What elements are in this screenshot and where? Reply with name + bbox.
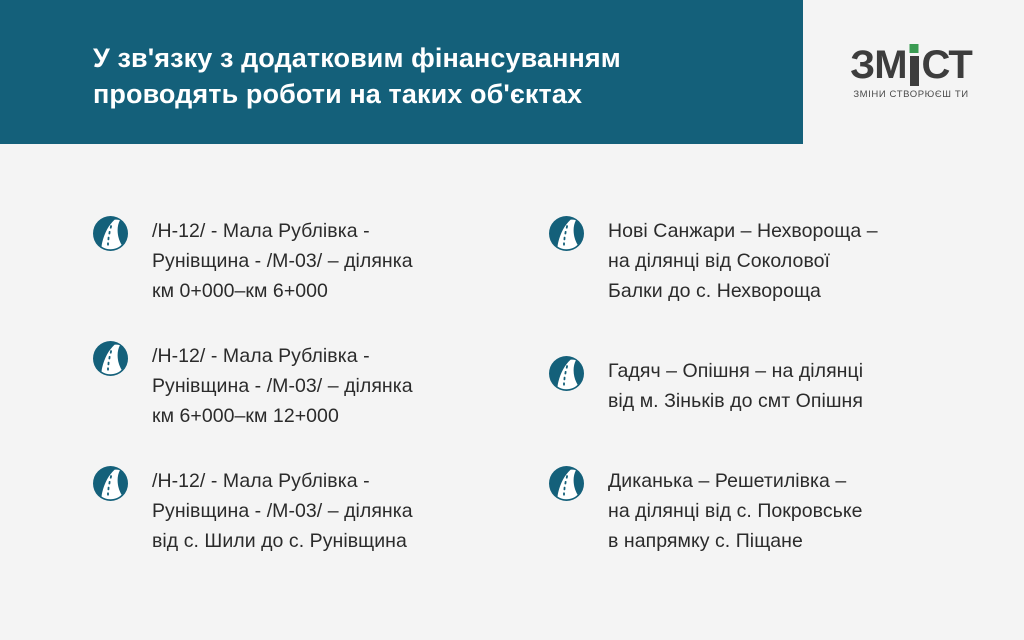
logo-wordmark: ЗМ СТ (846, 44, 976, 86)
list-item-label: Нові Санжари – Нехвороща – на ділянці ві… (608, 216, 969, 306)
list-item: Гадяч – Опішня – на ділянці від м. Зіньк… (549, 356, 969, 416)
brand-logo: ЗМ СТ зміни створюєш ти (846, 44, 976, 100)
list-item-label: Гадяч – Опішня – на ділянці від м. Зіньк… (608, 356, 969, 416)
road-icon (93, 216, 128, 251)
logo-wordmark-prefix: ЗМ (850, 44, 906, 86)
road-icon (549, 356, 584, 391)
list-item-label: /Н-12/ - Мала Рублівка - Рунівщина - /М-… (152, 216, 513, 306)
list-item-label: Диканька – Решетилівка – на ділянці від … (608, 466, 969, 556)
logo-tagline: зміни створюєш ти (846, 89, 976, 100)
list-item-label: /Н-12/ - Мала Рублівка - Рунівщина - /М-… (152, 466, 513, 556)
road-icon (93, 341, 128, 376)
list-item: /Н-12/ - Мала Рублівка - Рунівщина - /М-… (93, 466, 513, 556)
list-item: /Н-12/ - Мала Рублівка - Рунівщина - /М-… (93, 341, 513, 431)
header-band: У зв'язку з додатковим фінансуванням про… (0, 0, 803, 144)
road-icon (549, 216, 584, 251)
logo-green-dot-icon (910, 44, 919, 53)
road-icon (549, 466, 584, 501)
page-title: У зв'язку з додатковим фінансуванням про… (93, 40, 753, 112)
list-item-label: /Н-12/ - Мала Рублівка - Рунівщина - /М-… (152, 341, 513, 431)
logo-i-letter-icon (907, 44, 922, 86)
logo-i-stem (910, 56, 919, 86)
logo-wordmark-suffix: СТ (922, 44, 972, 86)
list-item: Диканька – Решетилівка – на ділянці від … (549, 466, 969, 556)
road-icon (93, 466, 128, 501)
content-area: /Н-12/ - Мала Рублівка - Рунівщина - /М-… (0, 144, 1024, 640)
list-item: Нові Санжари – Нехвороща – на ділянці ві… (549, 216, 969, 306)
list-item: /Н-12/ - Мала Рублівка - Рунівщина - /М-… (93, 216, 513, 306)
